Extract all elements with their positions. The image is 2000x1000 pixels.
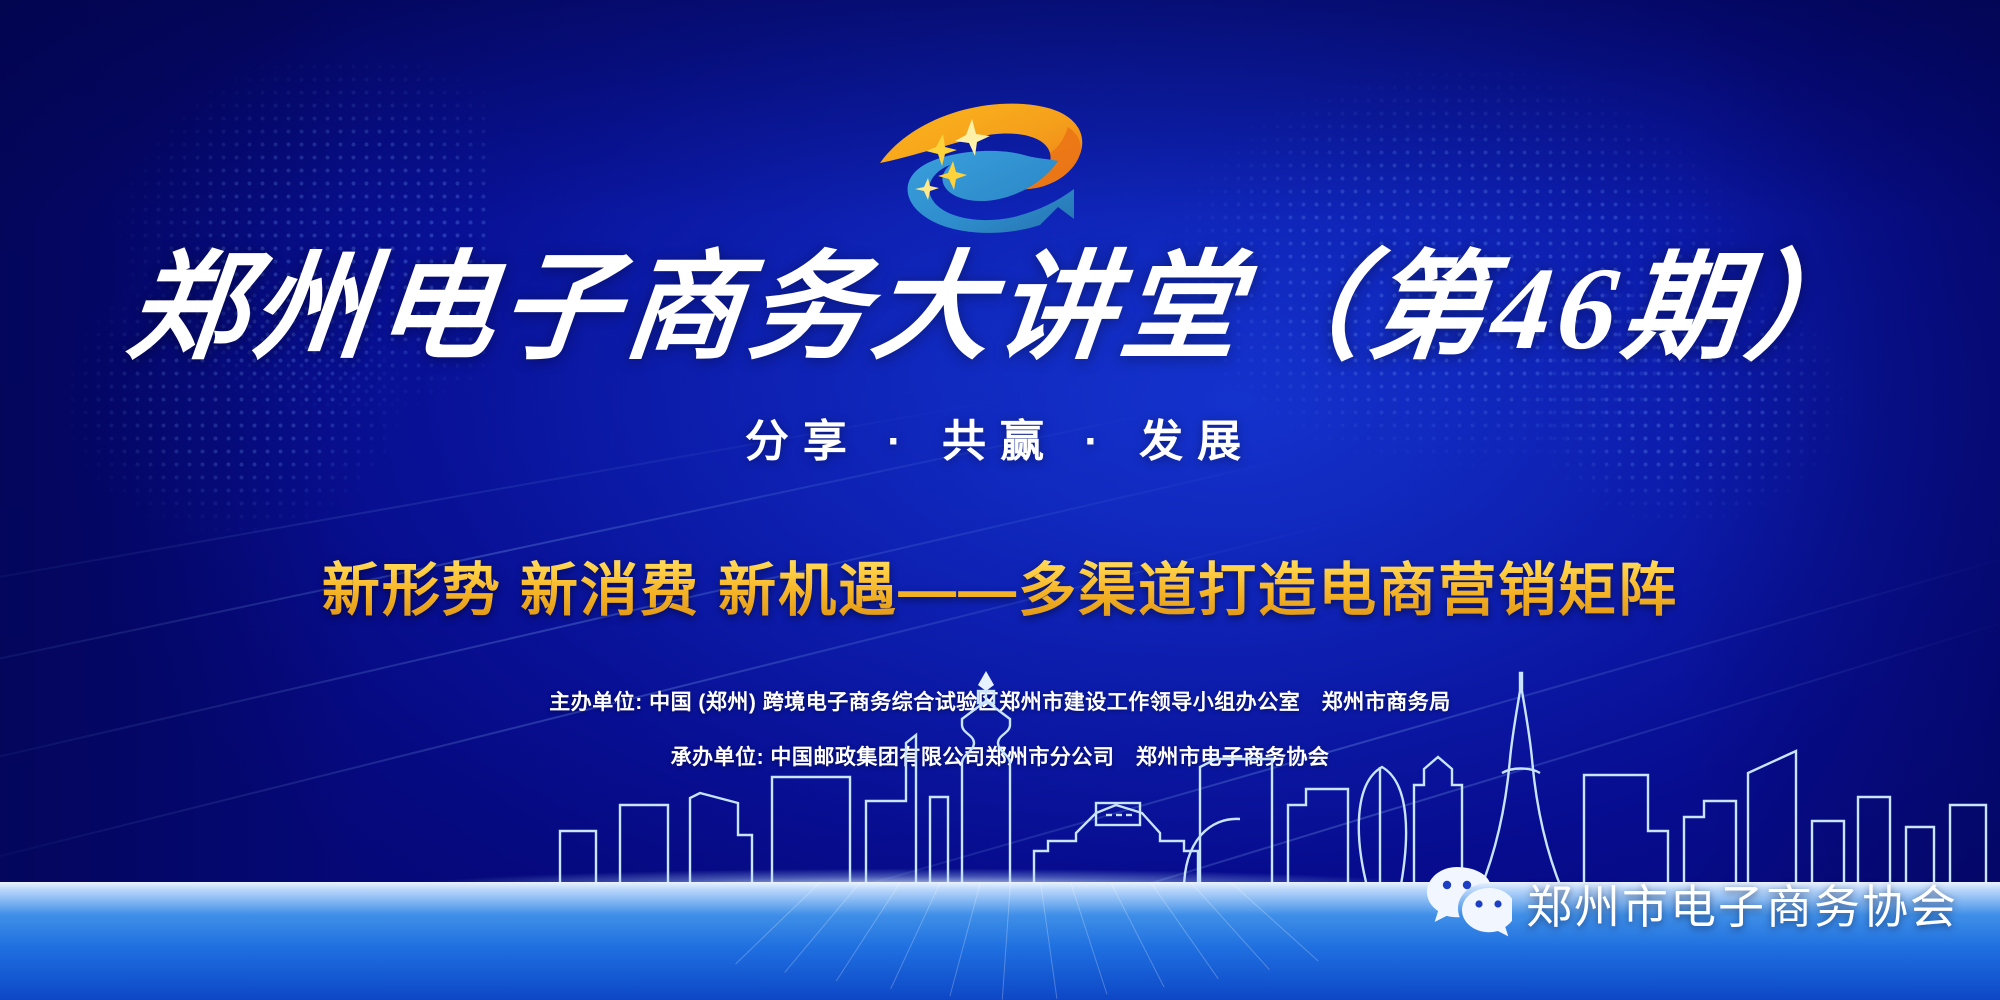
city-skyline-illustration [0,655,2000,890]
wechat-icon [1426,865,1512,942]
event-headline: 新形势 新消费 新机遇——多渠道打造电商营销矩阵 [0,543,2000,627]
wechat-account-name: 郑州市电子商务协会 [1526,871,1958,937]
wechat-account-badge[interactable]: 郑州市电子商务协会 [1426,865,1958,942]
page-subtitle: 分享 · 共赢 · 发展 [0,405,2000,469]
zhengzhou-cross-border-ecommerce-logo [862,95,1112,240]
page-title: 郑州电子商务大讲堂（第46期） [0,250,2000,368]
event-poster: 郑州电子商务大讲堂（第46期） 分享 · 共赢 · 发展 新形势 新消费 新机遇… [0,0,2000,1000]
